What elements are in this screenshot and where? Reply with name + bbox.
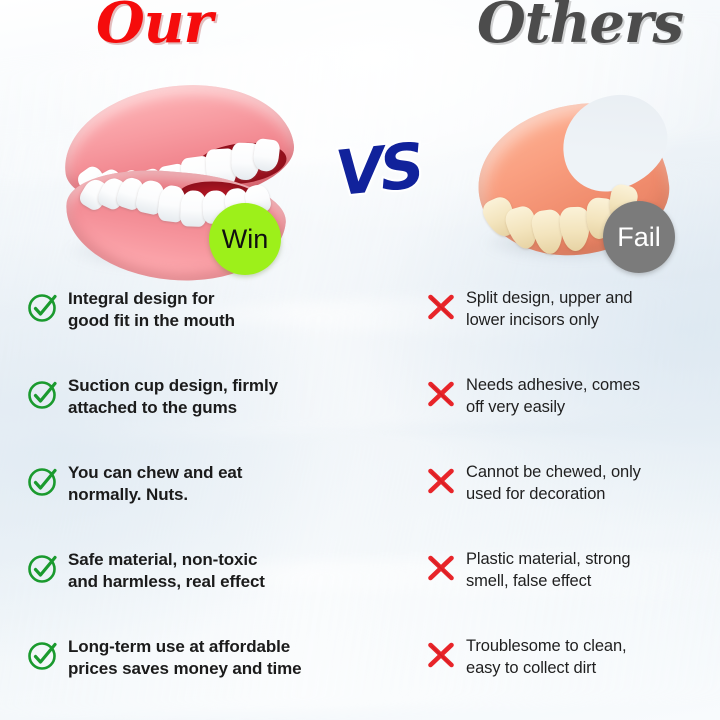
check-circle-icon <box>26 377 60 411</box>
cross-icon <box>424 464 458 498</box>
feature-line-2: easy to collect dirt <box>466 658 627 680</box>
feature-pro-2: Suction cup design, firmly attached to t… <box>26 375 376 420</box>
feature-row: You can chew and eat normally. Nuts. Can… <box>0 462 720 549</box>
feature-con-5: Troublesome to clean, easy to collect di… <box>424 636 714 680</box>
feature-line-2: good fit in the mouth <box>68 310 235 332</box>
check-circle-icon <box>26 551 60 585</box>
feature-comparison-list: Integral design for good fit in the mout… <box>0 288 720 720</box>
feature-line-1: Integral design for <box>68 289 214 308</box>
vs-label: VS <box>333 132 424 208</box>
cross-icon <box>424 551 458 585</box>
feature-line-2: lower incisors only <box>466 310 633 332</box>
feature-con-text: Split design, upper and lower incisors o… <box>466 288 633 332</box>
feature-con-text: Troublesome to clean, easy to collect di… <box>466 636 627 680</box>
feature-pro-4: Safe material, non-toxic and harmless, r… <box>26 549 376 594</box>
feature-con-text: Plastic material, strong smell, false ef… <box>466 549 631 593</box>
feature-con-text: Cannot be chewed, only used for decorati… <box>466 462 641 506</box>
cross-icon <box>424 377 458 411</box>
feature-pro-text: Integral design for good fit in the mout… <box>68 288 235 333</box>
feature-row: Long-term use at affordable prices saves… <box>0 636 720 720</box>
feature-con-3: Cannot be chewed, only used for decorati… <box>424 462 714 506</box>
cross-icon <box>424 290 458 324</box>
feature-line-2: prices saves money and time <box>68 658 302 680</box>
check-circle-icon <box>26 290 60 324</box>
feature-row: Suction cup design, firmly attached to t… <box>0 375 720 462</box>
feature-pro-text: Suction cup design, firmly attached to t… <box>68 375 278 420</box>
feature-line-1: Plastic material, strong <box>466 550 631 568</box>
feature-line-1: Cannot be chewed, only <box>466 463 641 481</box>
feature-con-4: Plastic material, strong smell, false ef… <box>424 549 714 593</box>
fail-badge: Fail <box>603 201 675 273</box>
fail-badge-label: Fail <box>617 222 661 253</box>
feature-line-2: and harmless, real effect <box>68 571 265 593</box>
feature-line-1: Safe material, non-toxic <box>68 550 257 569</box>
feature-line-2: smell, false effect <box>466 571 631 593</box>
feature-line-2: normally. Nuts. <box>68 484 242 506</box>
feature-row: Safe material, non-toxic and harmless, r… <box>0 549 720 636</box>
feature-line-2: attached to the gums <box>68 397 278 419</box>
win-badge: Win <box>209 203 281 275</box>
feature-row: Integral design for good fit in the mout… <box>0 288 720 375</box>
feature-pro-3: You can chew and eat normally. Nuts. <box>26 462 376 507</box>
feature-line-1: Troublesome to clean, <box>466 637 627 655</box>
feature-line-1: Split design, upper and <box>466 289 633 307</box>
feature-con-1: Split design, upper and lower incisors o… <box>424 288 714 332</box>
header-row: Our Others <box>0 0 720 62</box>
feature-pro-text: Long-term use at affordable prices saves… <box>68 636 302 681</box>
product-image-ours <box>45 80 325 280</box>
feature-pro-text: You can chew and eat normally. Nuts. <box>68 462 242 507</box>
feature-con-text: Needs adhesive, comes off very easily <box>466 375 640 419</box>
check-circle-icon <box>26 638 60 672</box>
feature-line-2: off very easily <box>466 397 640 419</box>
win-badge-label: Win <box>222 224 269 255</box>
header-others: Others <box>477 0 683 54</box>
feature-line-2: used for decoration <box>466 484 641 506</box>
feature-pro-5: Long-term use at affordable prices saves… <box>26 636 376 681</box>
feature-pro-1: Integral design for good fit in the mout… <box>26 288 376 333</box>
feature-line-1: Suction cup design, firmly <box>68 376 278 395</box>
check-circle-icon <box>26 464 60 498</box>
feature-pro-text: Safe material, non-toxic and harmless, r… <box>68 549 265 594</box>
feature-line-1: You can chew and eat <box>68 463 242 482</box>
cross-icon <box>424 638 458 672</box>
feature-line-1: Long-term use at affordable <box>68 637 290 656</box>
comparison-infographic: Our Others <box>0 0 720 720</box>
feature-con-2: Needs adhesive, comes off very easily <box>424 375 714 419</box>
feature-line-1: Needs adhesive, comes <box>466 376 640 394</box>
header-our: Our <box>96 0 212 54</box>
